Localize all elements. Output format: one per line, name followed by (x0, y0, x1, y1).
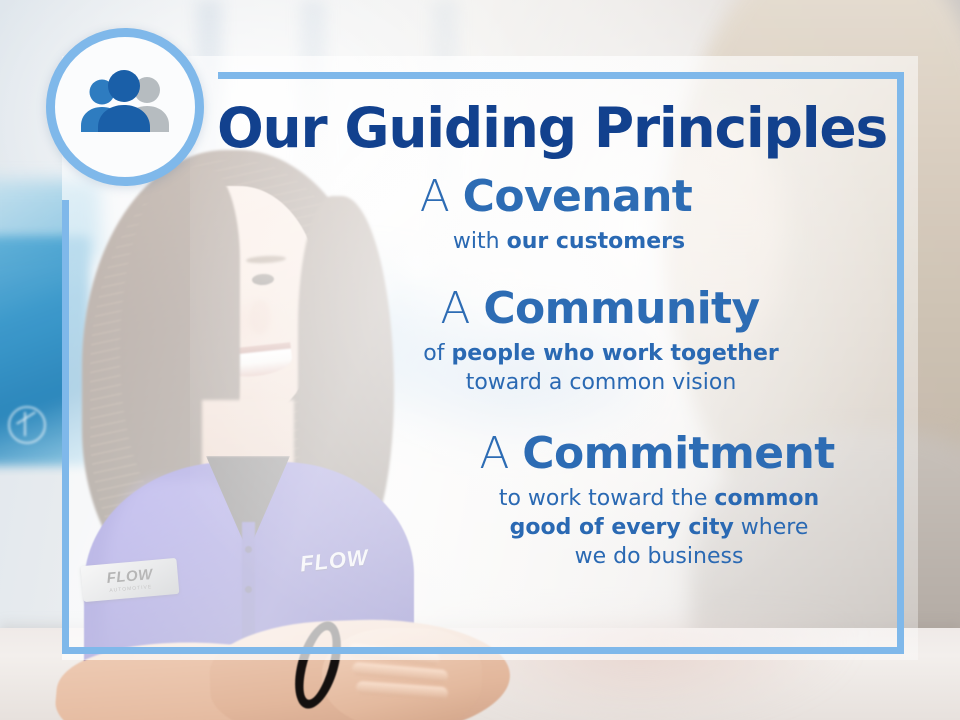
principle-commitment: A Commitment to work toward the common g… (200, 431, 904, 571)
people-group-icon (77, 70, 173, 144)
principle-subtext: to work toward the common good of every … (200, 484, 904, 572)
subtext-bold: common (714, 486, 819, 511)
principle-headline: A Covenant (200, 174, 904, 221)
principle-covenant: A Covenant with our customers (200, 174, 904, 256)
text-content: Our Guiding Principles A Covenant with o… (200, 80, 904, 571)
principle-community: A Community of people who work together … (200, 286, 904, 397)
principle-headline: A Community (200, 286, 904, 333)
principle-headline: A Commitment (200, 431, 904, 478)
subtext-plain: where (734, 515, 809, 540)
principle-subtext: with our customers (200, 227, 904, 256)
principle-keyword: Commitment (522, 428, 834, 479)
principle-article: A (420, 171, 450, 222)
subtext-plain: to work toward the (499, 486, 715, 511)
page-title: Our Guiding Principles (200, 100, 904, 156)
subtext-bold: people who work together (451, 341, 778, 366)
subtext-plain: toward a common vision (466, 370, 737, 395)
principle-keyword: Community (483, 283, 759, 334)
subtext-plain: of (423, 341, 451, 366)
subtext-bold: our customers (507, 229, 686, 254)
principle-subtext: of people who work together toward a com… (200, 339, 904, 398)
principle-keyword: Covenant (463, 171, 693, 222)
principle-article: A (440, 283, 470, 334)
principle-article: A (479, 428, 509, 479)
people-badge (46, 28, 204, 186)
vw-logo-icon (8, 406, 46, 444)
guiding-principles-graphic: FLOW AUTOMOTIVE FLOW (0, 0, 960, 720)
subtext-plain: with (453, 229, 507, 254)
subtext-bold: good of every city (510, 515, 734, 540)
subtext-plain: we do business (575, 544, 744, 569)
